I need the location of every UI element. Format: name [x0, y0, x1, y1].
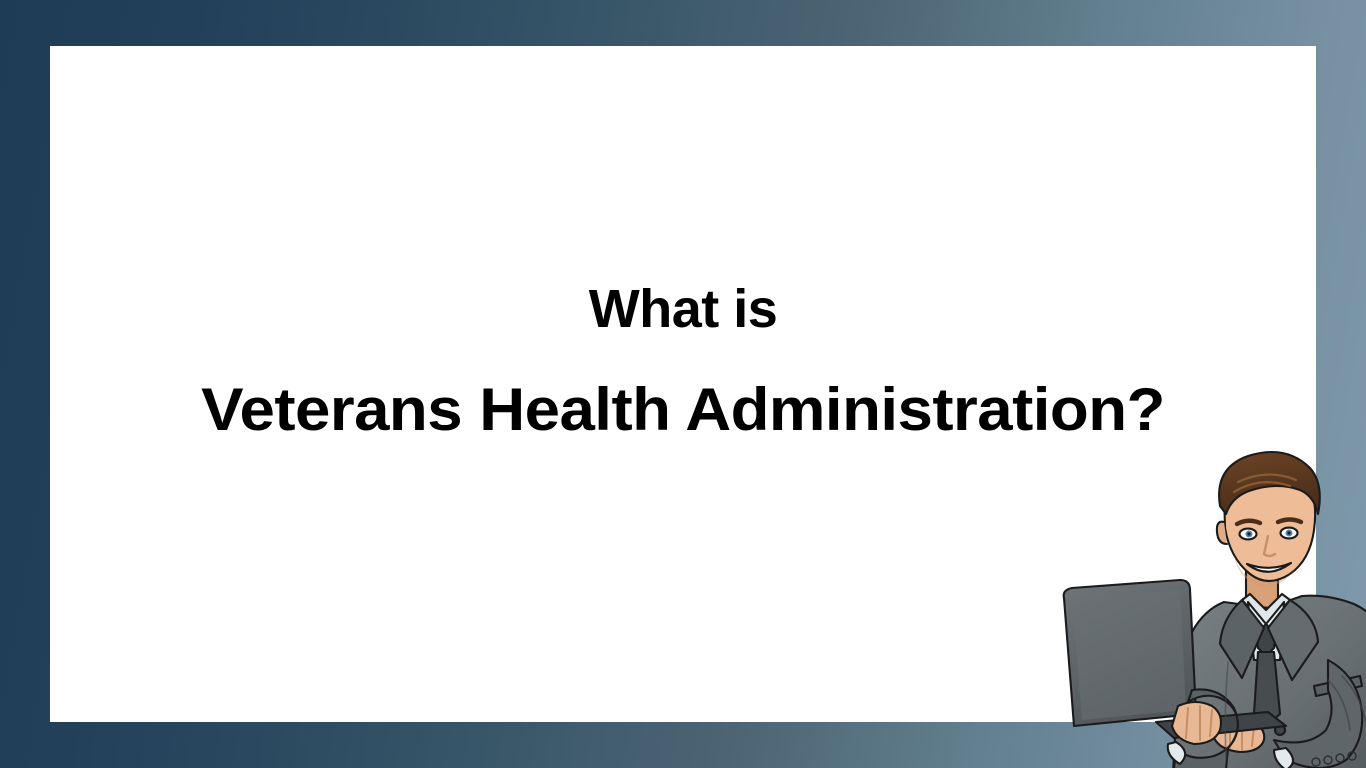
slide-title-line-1: What is [50, 282, 1316, 336]
presentation-slide: What is Veterans Health Administration? [0, 0, 1366, 768]
slide-title-line-2: Veterans Health Administration? [50, 380, 1316, 440]
slide-title-block: What is Veterans Health Administration? [50, 46, 1316, 440]
slide-content-card: What is Veterans Health Administration? [50, 46, 1316, 722]
